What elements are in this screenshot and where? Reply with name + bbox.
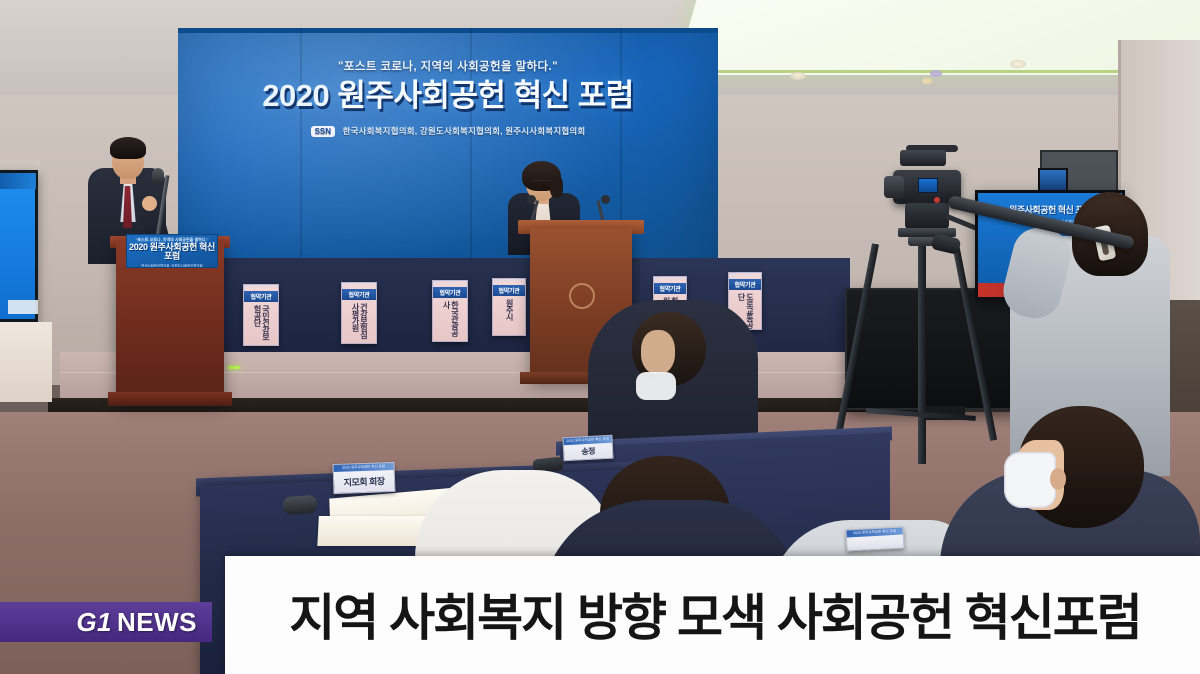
stage-card-header: 협약기관 [342, 289, 376, 300]
stage-card: 2020 원주사회공헌 혁신 포럼 협약기관 건강보험심사평가원 [341, 282, 377, 344]
podium-sign-year: 2020 [129, 242, 147, 252]
attendee-seated-face [641, 330, 675, 374]
channel-logo-mark: G1 [76, 607, 112, 638]
camera-hood [900, 150, 946, 166]
desk-nameplate: 2020 원주사회공헌 혁신 포럼 지모회 회장 [332, 462, 395, 494]
stage-card-header: 협약기관 [729, 279, 761, 290]
camera-lens-icon [884, 176, 904, 198]
banner-title-main: 원주사회공헌 [337, 78, 505, 113]
desk-nameplate: 2020 원주사회공헌 혁신 포럼 [845, 526, 904, 551]
news-headline: 지역 사회복지 방향 모색 사회공헌 혁신포럼 [240, 560, 1190, 668]
camera-lcd-screen [918, 178, 938, 193]
stage-card-name: 국민건강보험공단 [253, 305, 270, 345]
microphone-icon [152, 168, 164, 184]
eyeglasses-case-icon [282, 495, 317, 515]
stage-card-header: 협약기관 [493, 285, 525, 296]
channel-logo-word: NEWS [117, 607, 197, 638]
banner-top-edge [178, 28, 718, 33]
camera-record-light-icon [934, 197, 940, 203]
desk-nameplate: 2020 원주사회공헌 혁신 포럼 송정 [562, 435, 613, 462]
speaker-left-hair [110, 137, 146, 159]
downlight-icon [930, 70, 942, 77]
lectern-microphone-icon [527, 195, 536, 204]
downlight-icon [790, 72, 806, 80]
stage-card-header: 협약기관 [433, 287, 467, 298]
stage-card: 2020 원주사회공헌 혁신 포럼 협약기관 국민건강보험공단 [243, 284, 279, 346]
attendee-masked-ear [1050, 468, 1066, 490]
stage-card-header: 협약기관 [654, 283, 686, 294]
lectern-microphone-icon [601, 195, 610, 204]
auxiliary-monitor [1038, 168, 1068, 192]
desk-nameplate-name: 지모회 회장 [334, 470, 395, 493]
broadcast-screenshot: "포스트 코로나, 지역의 사회공헌을 말하다." 2020 원주사회공헌 혁신… [0, 0, 1200, 674]
ssn-logo-icon: SSN [311, 126, 335, 137]
tripod-center-column [918, 244, 926, 464]
lectern-emblem-icon [569, 283, 595, 309]
left-display-footer [8, 300, 38, 314]
banner-year: 2020 [262, 78, 329, 113]
face-mask-icon [1004, 452, 1056, 508]
banner-quote: "포스트 코로나, 지역의 사회공헌을 말하다." [178, 58, 718, 74]
stage-card: 2020 원주사회공헌 혁신 포럼 협약기관 한국관광공사 [432, 280, 468, 342]
podium-sign: "포스트 코로나, 지역의 사회공헌을 말하다." 2020 원주사회공헌 혁신… [126, 234, 218, 268]
stage-card-name: 원주시 [505, 299, 513, 320]
stage-card: 2020 원주사회공헌 혁신 포럼 협약기관 원주시 [492, 278, 526, 336]
stage-card-name: 건강보험심사평가원 [351, 303, 368, 343]
speaker-center-hair-side [550, 176, 563, 198]
laser-pointer-dot-icon [228, 366, 240, 369]
banner-title: 2020 원주사회공헌 혁신 포럼 [178, 80, 718, 111]
podium-base [108, 392, 232, 406]
podium-sign-title: 2020 원주사회공헌 혁신 포럼 [127, 243, 217, 261]
podium-sign-title-text: 원주사회공헌 혁신 포럼 [150, 242, 215, 261]
stage-card-name: 한국관광공사 [442, 301, 459, 341]
left-display-header [0, 173, 36, 189]
banner-title-sub: 혁신 포럼 [514, 78, 634, 113]
face-mask-icon [636, 372, 676, 400]
downlight-icon [922, 78, 932, 84]
speaker-left-hand [142, 196, 157, 211]
desk-nameplate-name: 송정 [564, 443, 613, 460]
downlight-icon [1010, 60, 1026, 68]
banner-organizations: 한국사회복지협의회, 강원도사회복지협의회, 원주시사회복지협의회 [343, 126, 586, 136]
channel-logo: G1 NEWS [0, 602, 205, 642]
speaker-center-glasses-icon [532, 180, 551, 185]
tripod-fluid-head [905, 203, 949, 229]
desk-nameplate-header: 2020 원주사회공헌 혁신 포럼 [847, 528, 903, 538]
podium-sign-orgs: 한국사회복지협의회, 강원도사회복지협의회 [127, 263, 217, 268]
stage-card-header: 협약기관 [244, 291, 278, 302]
left-side-table [0, 322, 52, 402]
banner-organizer-line: SSN 한국사회복지협의회, 강원도사회복지협의회, 원주시사회복지협의회 [178, 125, 718, 137]
